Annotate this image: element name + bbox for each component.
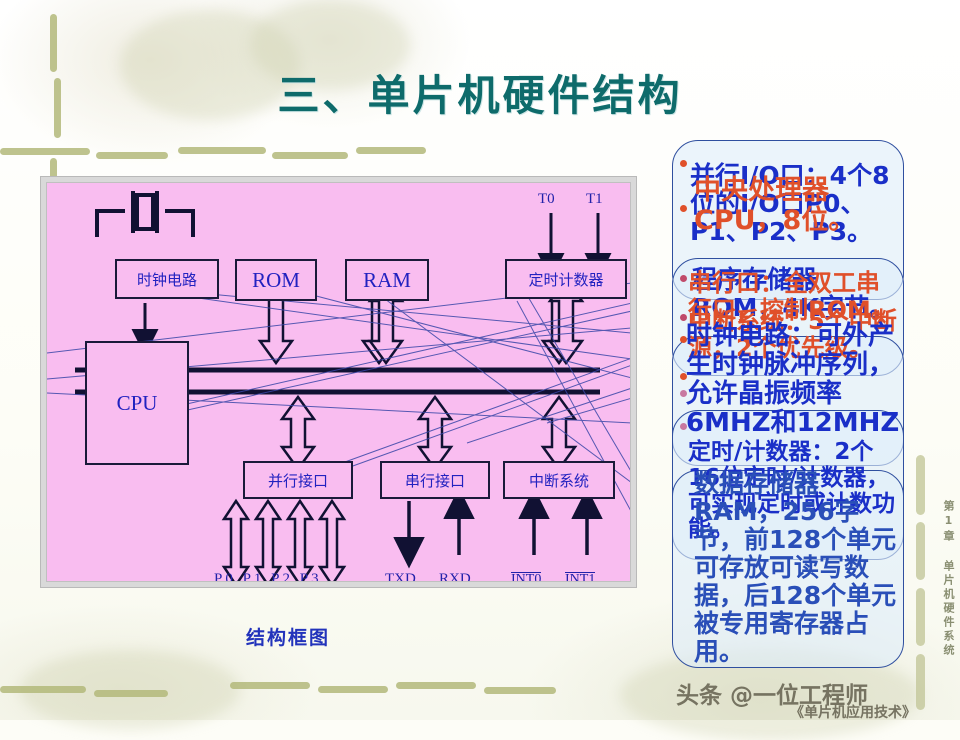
diagram-node-cpu[interactable]: CPU [85, 341, 189, 465]
chapter-side-tab: 第1章 单片机硬件系统 [932, 500, 954, 658]
structure-diagram: 时钟电路 ROM RAM 定时计数器 CPU 并行接口 串行接口 中断系统 T0… [46, 182, 631, 582]
signal-label-ports: P0 P1 P2 P3 [214, 571, 322, 582]
bullet-panel-stack: 并行I/O口：4个8位的I/O口P0、P1、P2、P3。中央处理器CPU，8位。… [672, 140, 904, 668]
bullet-text-cpu-desc: 中央处理器CPU，8位。 [672, 176, 904, 236]
vine-decoration [178, 147, 266, 154]
watermark-sub: 《单片机应用技术》 [790, 702, 916, 722]
vine-decoration [0, 686, 86, 693]
vine-decoration [916, 455, 925, 515]
vine-decoration [916, 654, 925, 710]
vine-decoration [356, 147, 426, 154]
signal-label-int1: INT1 [565, 572, 595, 582]
vine-decoration [54, 78, 61, 138]
vine-decoration [318, 686, 388, 693]
page-title: 三、单片机硬件结构 [200, 62, 760, 123]
signal-label-txd: TXD [385, 571, 416, 582]
diagram-node-interrupt-system[interactable]: 中断系统 [503, 461, 615, 499]
vine-decoration [96, 152, 168, 159]
signal-label-rxd: RXD [439, 571, 471, 582]
diagram-node-clock[interactable]: 时钟电路 [115, 259, 219, 299]
bullet-text-clock-desc: 时钟电路：可外产生时钟脉冲序列，允许晶振频率6MHZ和12MHZ [672, 322, 904, 438]
diagram-caption: 结构框图 [246, 623, 330, 650]
bullet-text-ram-desc: 数据存储器RAM，256字节，前128个单元可存放可读写数据，后128个单元被专… [672, 470, 904, 666]
vine-decoration [916, 588, 925, 646]
diagram-node-rom[interactable]: ROM [235, 259, 317, 301]
vine-decoration [230, 682, 310, 689]
diagram-node-parallel-port[interactable]: 并行接口 [243, 461, 353, 499]
vine-decoration [50, 14, 57, 72]
diagram-node-serial-port[interactable]: 串行接口 [380, 461, 490, 499]
vine-decoration [94, 690, 168, 697]
signal-label-t0: T0 [538, 191, 555, 208]
vine-decoration [0, 148, 90, 155]
diagram-node-ram[interactable]: RAM [345, 259, 429, 301]
vine-decoration [396, 682, 476, 689]
signal-label-int0: INT0 [511, 572, 541, 582]
vine-decoration [484, 687, 556, 694]
signal-label-t1: T1 [586, 191, 603, 208]
diagram-node-timer[interactable]: 定时计数器 [505, 259, 627, 299]
vine-decoration [272, 152, 348, 159]
structure-diagram-frame: 时钟电路 ROM RAM 定时计数器 CPU 并行接口 串行接口 中断系统 T0… [40, 176, 637, 588]
vine-decoration [916, 522, 925, 580]
